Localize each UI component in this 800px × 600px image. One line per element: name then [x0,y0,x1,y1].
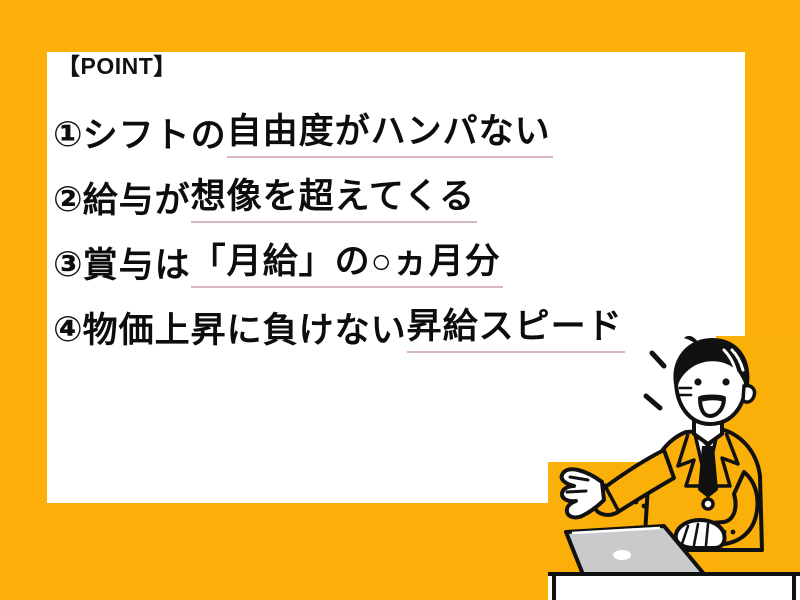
list-item: ① シフトの 自由度がハンパない [53,103,713,168]
bullet-text-plain-3: 賞与は [83,248,191,283]
list-item: ② 給与が 想像を超えてくる [53,168,713,233]
bullet-text-underlined-3: 「月給」の○ヵ月分 [191,244,501,288]
list-item: ③ 賞与は 「月給」の○ヵ月分 [53,233,713,298]
bullet-text-underlined-2: 想像を超えてくる [191,179,476,223]
list-item: ④ 物価上昇に負けない 昇給スピード [53,298,713,363]
bullet-marker-1: ① [53,118,83,153]
bullet-text-underlined-1: 自由度がハンパない [227,114,551,158]
slide-canvas: 【POINT】 ① シフトの 自由度がハンパない ② 給与が 想像を超えてくる … [0,0,800,600]
page-title: 【POINT】 [57,55,177,78]
bullet-marker-4: ④ [53,313,83,348]
bullet-text-plain-4: 物価上昇に負けない [83,313,407,348]
bullet-marker-3: ③ [53,248,83,283]
point-list: ① シフトの 自由度がハンパない ② 給与が 想像を超えてくる ③ 賞与は 「月… [53,103,713,363]
bullet-text-plain-2: 給与が [83,183,191,218]
bullet-text-underlined-4: 昇給スピード [407,309,623,353]
bullet-marker-2: ② [53,183,83,218]
bullet-text-plain-1: シフトの [83,118,227,153]
